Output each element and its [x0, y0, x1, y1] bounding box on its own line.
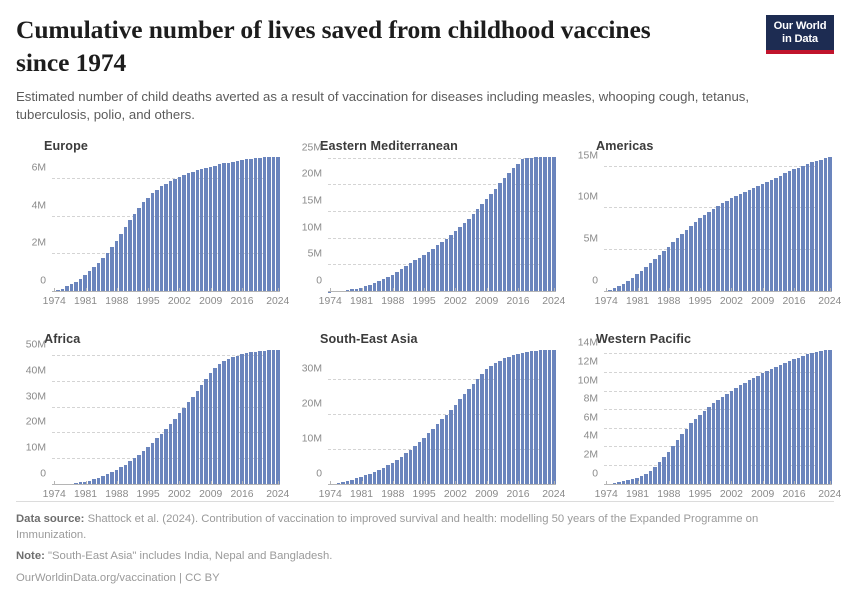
x-axis-tick-label: 1974: [43, 296, 66, 307]
x-axis-tick-mark: [487, 288, 488, 292]
bar[interactable]: [480, 204, 483, 291]
bar[interactable]: [386, 465, 389, 484]
chart-panel-south-east-asia: South-East Asia010M20M30M197419811988199…: [292, 332, 558, 520]
bar[interactable]: [828, 157, 831, 292]
bar[interactable]: [539, 350, 542, 484]
bar[interactable]: [774, 367, 777, 485]
bar[interactable]: [169, 424, 172, 485]
bar[interactable]: [552, 350, 555, 485]
bar[interactable]: [476, 209, 479, 292]
bar[interactable]: [658, 255, 661, 292]
x-axis-tick-mark: [638, 288, 639, 292]
bar[interactable]: [792, 169, 795, 291]
bar[interactable]: [689, 423, 692, 484]
bar[interactable]: [137, 455, 140, 485]
y-axis-tick-label: 2M: [584, 450, 598, 461]
bar[interactable]: [449, 410, 452, 485]
bar[interactable]: [730, 391, 733, 485]
bar[interactable]: [530, 158, 533, 292]
bar[interactable]: [263, 157, 266, 291]
bar[interactable]: [245, 353, 248, 484]
bar[interactable]: [503, 358, 506, 484]
bar[interactable]: [752, 188, 755, 292]
y-axis-tick-label: 15M: [578, 150, 598, 161]
bar[interactable]: [552, 157, 555, 292]
chart-panel-europe: Europe02M4M6M197419811988199520022009201…: [16, 139, 282, 324]
bar[interactable]: [730, 198, 733, 291]
bar[interactable]: [667, 247, 670, 292]
bar[interactable]: [685, 429, 688, 485]
bar[interactable]: [124, 465, 127, 485]
bar[interactable]: [413, 260, 416, 291]
bar[interactable]: [548, 157, 551, 292]
bar[interactable]: [765, 182, 768, 292]
bar[interactable]: [209, 373, 212, 485]
bar[interactable]: [400, 457, 403, 485]
bar[interactable]: [463, 223, 466, 292]
bar[interactable]: [124, 227, 127, 292]
bar[interactable]: [539, 157, 542, 292]
bar[interactable]: [503, 178, 506, 292]
bar[interactable]: [662, 457, 665, 484]
bar[interactable]: [222, 163, 225, 291]
y-axis: 05M10M15M20M25M: [292, 157, 326, 292]
bar[interactable]: [783, 173, 786, 291]
bar[interactable]: [249, 352, 252, 484]
y-axis-tick-label: 10M: [578, 375, 598, 386]
bar[interactable]: [653, 467, 656, 485]
bar[interactable]: [676, 238, 679, 292]
bar[interactable]: [707, 407, 710, 485]
page-subtitle: Estimated number of child deaths averted…: [16, 88, 786, 124]
bar[interactable]: [680, 434, 683, 485]
y-axis-tick-label: 0: [316, 275, 322, 286]
x-axis-tick-mark: [638, 481, 639, 485]
bar[interactable]: [204, 379, 207, 485]
bar[interactable]: [454, 405, 457, 485]
x-axis-tick-mark: [330, 481, 331, 485]
bar[interactable]: [712, 403, 715, 484]
bar[interactable]: [467, 219, 470, 292]
x-axis-tick-label: 1995: [137, 296, 160, 307]
bar[interactable]: [187, 402, 190, 484]
bar[interactable]: [128, 220, 131, 291]
bar[interactable]: [801, 166, 804, 292]
bar[interactable]: [671, 242, 674, 291]
bar[interactable]: [431, 429, 434, 485]
bar[interactable]: [200, 385, 203, 485]
x-axis-tick-label: 1981: [74, 489, 97, 500]
bar[interactable]: [756, 186, 759, 292]
bar[interactable]: [507, 173, 510, 292]
bar[interactable]: [716, 400, 719, 485]
bar[interactable]: [819, 351, 822, 485]
chart-panel-americas: Americas05M10M15M19741981198819952002200…: [568, 139, 834, 324]
x-axis-tick-label: 2002: [444, 489, 467, 500]
bar[interactable]: [182, 408, 185, 485]
bar[interactable]: [386, 277, 389, 292]
bar[interactable]: [543, 350, 546, 485]
plot-canvas: [328, 157, 556, 292]
x-axis-tick-mark: [700, 481, 701, 485]
bar[interactable]: [92, 267, 95, 291]
bar[interactable]: [218, 164, 221, 291]
chart-footer: Data source: Shattock et al. (2024). Con…: [16, 501, 834, 586]
bar[interactable]: [254, 158, 257, 292]
bar[interactable]: [548, 350, 551, 485]
bar[interactable]: [725, 394, 728, 485]
x-axis-tick-mark: [794, 481, 795, 485]
bar[interactable]: [119, 234, 122, 292]
bar[interactable]: [640, 271, 643, 292]
bar[interactable]: [418, 442, 421, 485]
bar[interactable]: [133, 458, 136, 484]
bar[interactable]: [649, 263, 652, 292]
bar[interactable]: [382, 468, 385, 485]
bar[interactable]: [788, 361, 791, 485]
bar[interactable]: [173, 179, 176, 292]
bar[interactable]: [164, 429, 167, 485]
bar[interactable]: [810, 162, 813, 291]
bar[interactable]: [824, 158, 827, 292]
bar[interactable]: [472, 384, 475, 484]
bar[interactable]: [703, 411, 706, 485]
bar[interactable]: [779, 176, 782, 292]
bar[interactable]: [110, 247, 113, 292]
bar[interactable]: [698, 218, 701, 291]
bar[interactable]: [458, 399, 461, 484]
x-axis-tick-mark: [554, 288, 555, 292]
bar[interactable]: [445, 415, 448, 485]
bar[interactable]: [739, 194, 742, 292]
x-axis-tick-mark: [518, 481, 519, 485]
bar[interactable]: [806, 164, 809, 292]
x-axis-tick-label: 2016: [782, 489, 805, 500]
bar[interactable]: [530, 351, 533, 484]
plot-area: 010M20M30M40M50M197419811988199520022009…: [16, 350, 282, 502]
bar[interactable]: [824, 350, 827, 484]
bar[interactable]: [119, 467, 122, 484]
bar[interactable]: [792, 359, 795, 484]
x-axis: 19741981198819952002200920162024: [52, 485, 280, 502]
bar[interactable]: [213, 368, 216, 485]
y-axis-tick-label: 0: [40, 468, 46, 479]
bar[interactable]: [689, 226, 692, 292]
bar[interactable]: [543, 157, 546, 292]
x-axis-tick-label: 2016: [230, 489, 253, 500]
bar[interactable]: [756, 376, 759, 485]
plot-canvas: [52, 350, 280, 485]
bar[interactable]: [178, 413, 181, 484]
bar[interactable]: [151, 443, 154, 485]
bar[interactable]: [440, 419, 443, 484]
source-link[interactable]: OurWorldinData.org/vaccination | CC BY: [16, 570, 796, 586]
bar[interactable]: [774, 178, 777, 292]
bar[interactable]: [155, 190, 158, 292]
x-axis-tick-label: 2002: [720, 489, 743, 500]
bar[interactable]: [653, 259, 656, 292]
bar[interactable]: [779, 365, 782, 485]
bar[interactable]: [485, 199, 488, 292]
bar[interactable]: [409, 450, 412, 485]
bar[interactable]: [418, 258, 421, 292]
bar[interactable]: [267, 157, 270, 292]
bar[interactable]: [196, 391, 199, 485]
bar[interactable]: [236, 161, 239, 292]
y-axis: 05M10M15M: [568, 157, 602, 292]
bar[interactable]: [676, 440, 679, 485]
y-axis-tick-label: 10M: [578, 192, 598, 203]
bar[interactable]: [685, 230, 688, 292]
bar[interactable]: [721, 397, 724, 485]
bar[interactable]: [169, 181, 172, 292]
bar[interactable]: [680, 234, 683, 292]
x-axis: 19741981198819952002200920162024: [52, 292, 280, 309]
bar[interactable]: [761, 184, 764, 292]
bar[interactable]: [146, 447, 149, 485]
bar[interactable]: [694, 222, 697, 292]
bar[interactable]: [222, 361, 225, 484]
bar[interactable]: [227, 359, 230, 485]
bar[interactable]: [133, 214, 136, 292]
bar[interactable]: [173, 419, 176, 485]
x-axis-tick-label: 2009: [475, 489, 498, 500]
bar[interactable]: [182, 175, 185, 292]
bar[interactable]: [258, 351, 261, 485]
x-axis-tick-mark: [487, 481, 488, 485]
bar[interactable]: [213, 166, 216, 292]
bar[interactable]: [476, 379, 479, 484]
bar[interactable]: [516, 164, 519, 292]
bar[interactable]: [472, 214, 475, 292]
bar[interactable]: [146, 198, 149, 292]
bar[interactable]: [770, 369, 773, 485]
bar[interactable]: [512, 355, 515, 485]
y-axis-tick-label: 4M: [32, 200, 46, 211]
bar[interactable]: [236, 356, 239, 485]
x-axis-tick-mark: [148, 481, 149, 485]
bar[interactable]: [409, 263, 412, 291]
bar[interactable]: [494, 363, 497, 485]
bar[interactable]: [160, 434, 163, 485]
bar[interactable]: [178, 177, 181, 292]
bar[interactable]: [155, 438, 158, 484]
bar[interactable]: [739, 385, 742, 484]
bar[interactable]: [662, 251, 665, 292]
bar[interactable]: [507, 357, 510, 485]
bar[interactable]: [227, 163, 230, 292]
bar[interactable]: [395, 272, 398, 292]
bar[interactable]: [521, 353, 524, 485]
plot-canvas: [604, 350, 832, 485]
bar[interactable]: [631, 278, 634, 292]
x-axis-tick-mark: [86, 481, 87, 485]
bar[interactable]: [191, 172, 194, 292]
bar[interactable]: [128, 461, 131, 484]
bar[interactable]: [806, 354, 809, 484]
y-axis-tick-label: 10M: [302, 433, 322, 444]
x-axis-tick-mark: [424, 288, 425, 292]
bar[interactable]: [698, 415, 701, 485]
y-axis-tick-label: 6M: [32, 163, 46, 174]
bar[interactable]: [276, 350, 279, 485]
bar[interactable]: [485, 369, 488, 484]
bar[interactable]: [828, 350, 831, 485]
bar[interactable]: [431, 249, 434, 292]
bar[interactable]: [725, 201, 728, 292]
bar[interactable]: [712, 209, 715, 292]
bar[interactable]: [454, 231, 457, 291]
bar[interactable]: [765, 371, 768, 485]
bar[interactable]: [440, 242, 443, 292]
bar[interactable]: [245, 159, 248, 291]
bar[interactable]: [160, 186, 163, 291]
bar[interactable]: [400, 269, 403, 292]
bar[interactable]: [267, 350, 270, 484]
bar[interactable]: [151, 193, 154, 291]
bar[interactable]: [395, 460, 398, 485]
bar[interactable]: [783, 363, 786, 485]
bar[interactable]: [489, 366, 492, 485]
bar[interactable]: [512, 168, 515, 292]
bar[interactable]: [137, 208, 140, 292]
bar[interactable]: [254, 352, 257, 485]
bar[interactable]: [815, 161, 818, 292]
bar[interactable]: [231, 162, 234, 292]
bar[interactable]: [377, 470, 380, 485]
bar[interactable]: [436, 245, 439, 291]
owid-logo[interactable]: Our World in Data: [766, 15, 834, 54]
bar[interactable]: [142, 202, 145, 291]
bar[interactable]: [534, 351, 537, 485]
bar[interactable]: [88, 271, 91, 291]
bar[interactable]: [404, 453, 407, 484]
bar[interactable]: [200, 169, 203, 292]
bar[interactable]: [788, 171, 791, 291]
bar[interactable]: [427, 252, 430, 292]
bar[interactable]: [463, 394, 466, 484]
bar[interactable]: [413, 446, 416, 485]
bar[interactable]: [707, 212, 710, 292]
bar[interactable]: [436, 424, 439, 485]
bar[interactable]: [671, 446, 674, 485]
bar[interactable]: [101, 258, 104, 292]
bar[interactable]: [458, 227, 461, 291]
bar[interactable]: [801, 356, 804, 485]
y-axis-tick-label: 2M: [32, 238, 46, 249]
bar[interactable]: [404, 266, 407, 291]
bar[interactable]: [649, 471, 652, 485]
bar[interactable]: [494, 189, 497, 292]
bar[interactable]: [276, 157, 279, 292]
bar[interactable]: [97, 263, 100, 292]
bar[interactable]: [534, 157, 537, 291]
bar[interactable]: [716, 206, 719, 292]
bar[interactable]: [445, 239, 448, 292]
bar[interactable]: [115, 241, 118, 292]
bar[interactable]: [209, 167, 212, 292]
y-axis-tick-label: 10M: [302, 222, 322, 233]
bar[interactable]: [196, 170, 199, 291]
bar[interactable]: [644, 267, 647, 292]
bar[interactable]: [770, 180, 773, 292]
bar[interactable]: [815, 352, 818, 485]
y-axis-tick-label: 10M: [26, 442, 46, 453]
bar[interactable]: [218, 364, 221, 485]
y-axis-tick-label: 20M: [302, 398, 322, 409]
bar[interactable]: [498, 361, 501, 485]
bar[interactable]: [142, 451, 145, 485]
bar[interactable]: [797, 358, 800, 485]
bar[interactable]: [191, 397, 194, 485]
bar[interactable]: [422, 255, 425, 292]
bar[interactable]: [204, 168, 207, 292]
bar[interactable]: [658, 462, 661, 484]
plot-area: 010M20M30M197419811988199520022009201620…: [292, 350, 558, 502]
bar[interactable]: [797, 168, 800, 292]
bar[interactable]: [752, 378, 755, 485]
bar[interactable]: [810, 353, 813, 485]
bar[interactable]: [427, 433, 430, 484]
bar[interactable]: [743, 192, 746, 292]
bar[interactable]: [231, 357, 234, 485]
bar[interactable]: [164, 184, 167, 292]
bar[interactable]: [703, 215, 706, 292]
bar[interactable]: [748, 380, 751, 484]
plot-area: 02M4M6M19741981198819952002200920162024: [16, 157, 282, 309]
bar[interactable]: [734, 388, 737, 485]
bar[interactable]: [258, 158, 261, 292]
bar[interactable]: [489, 194, 492, 292]
bar[interactable]: [249, 159, 252, 292]
bar[interactable]: [498, 183, 501, 291]
x-axis-tick-label: 1974: [595, 489, 618, 500]
x-axis-tick-mark: [211, 288, 212, 292]
bar[interactable]: [240, 354, 243, 484]
x-axis-tick-label: 2016: [782, 296, 805, 307]
bar-series: [52, 350, 280, 485]
bar[interactable]: [743, 383, 746, 485]
bar[interactable]: [516, 354, 519, 485]
x-axis-tick-label: 1988: [657, 296, 680, 307]
bar[interactable]: [240, 160, 243, 292]
bar[interactable]: [734, 196, 737, 292]
bar[interactable]: [521, 159, 524, 291]
x-axis-tick-label: 2016: [230, 296, 253, 307]
x-axis-tick-label: 1981: [74, 296, 97, 307]
bar[interactable]: [694, 419, 697, 485]
y-axis-tick-label: 4M: [584, 431, 598, 442]
bar[interactable]: [480, 374, 483, 484]
bar[interactable]: [525, 158, 528, 292]
bar[interactable]: [187, 173, 190, 292]
bar[interactable]: [748, 190, 751, 292]
x-axis-tick-label: 2016: [506, 489, 529, 500]
bar[interactable]: [263, 351, 266, 485]
bar[interactable]: [525, 352, 528, 485]
x-axis-tick-mark: [54, 288, 55, 292]
bar[interactable]: [106, 253, 109, 292]
bar[interactable]: [449, 235, 452, 292]
bar[interactable]: [467, 389, 470, 484]
bar[interactable]: [272, 350, 275, 485]
bar[interactable]: [761, 373, 764, 484]
bar[interactable]: [422, 438, 425, 485]
x-axis-tick-label: 1995: [413, 296, 436, 307]
bar[interactable]: [819, 160, 822, 292]
bar[interactable]: [721, 203, 724, 291]
bar[interactable]: [272, 157, 275, 292]
